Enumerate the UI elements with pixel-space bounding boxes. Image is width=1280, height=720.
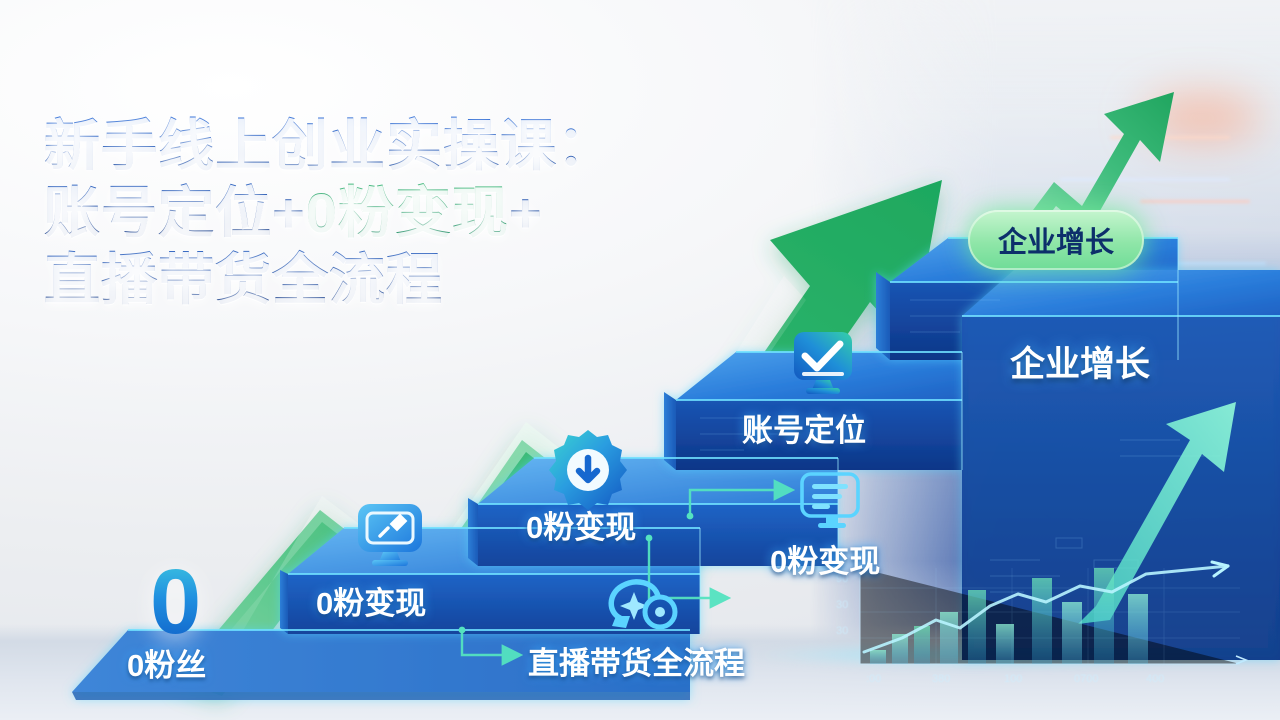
growth-pill-badge[interactable]: 企业增长 — [968, 210, 1144, 270]
title-line-2-a: 账号定位+ — [44, 181, 306, 244]
page-title: 新手线上创业实操课： 账号定位+0粉变现+ 直播带货全流程 — [44, 112, 744, 314]
title-line-2-b: 0粉变现 — [306, 181, 509, 244]
title-line-3: 直播带货全流程 — [44, 248, 443, 311]
gear-download-icon — [548, 428, 628, 508]
monitor-pen-icon — [352, 500, 432, 574]
title-line-2-c: + — [509, 181, 543, 244]
poster-canvas: 90 30 30 :00 380 100 0700 400 新手线上创业实操课：… — [0, 0, 1280, 720]
title-line-1: 新手线上创业实操课： — [44, 114, 614, 177]
monitor-check-icon — [790, 330, 862, 402]
livestream-camera-icon — [604, 572, 684, 636]
screen-lines-icon — [796, 470, 868, 536]
zero-marker: 0 — [150, 556, 201, 648]
